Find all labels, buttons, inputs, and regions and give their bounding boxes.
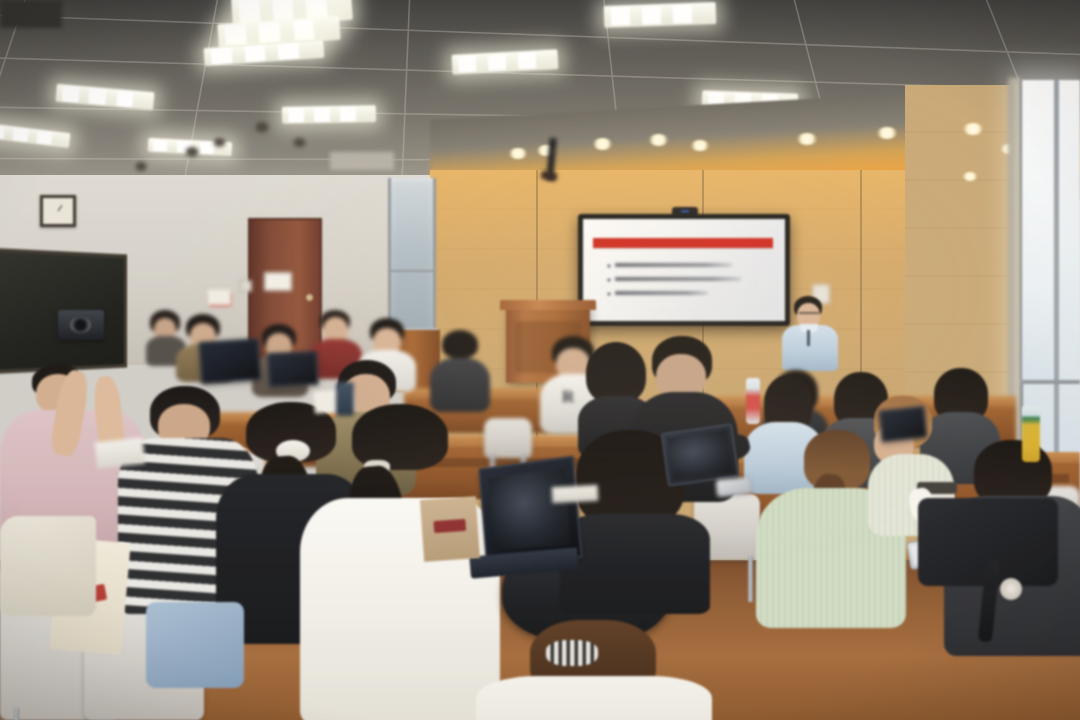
presenter-lanyard <box>807 330 810 346</box>
glasses-icon <box>799 312 819 318</box>
recessed-downlight <box>796 133 818 145</box>
ceiling-speaker-icon <box>136 162 146 170</box>
smartphone[interactable] <box>715 476 752 497</box>
recessed-downlight <box>962 172 978 181</box>
recessed-downlight <box>690 140 710 151</box>
ceiling-light-fixture <box>282 105 376 124</box>
recessed-downlight <box>648 134 669 146</box>
recessed-downlight <box>508 148 528 159</box>
laptop[interactable] <box>199 338 262 384</box>
laptop[interactable] <box>878 406 927 443</box>
attendee <box>430 330 490 408</box>
presentation-slide <box>583 219 785 321</box>
wall-clock <box>40 195 76 227</box>
ceiling-speaker-icon <box>256 122 268 131</box>
ceiling-speaker-icon <box>294 138 305 146</box>
ac-vent <box>0 0 62 28</box>
shirt-letter-r: R <box>562 388 576 406</box>
recessed-downlight <box>876 127 898 139</box>
camera-led-icon <box>681 210 689 213</box>
notice-sign-white <box>264 272 292 291</box>
denim-jacket <box>146 602 244 688</box>
studded-hair-tie <box>546 640 598 666</box>
ceiling-light-fixture <box>604 2 717 28</box>
water-bottle[interactable] <box>746 378 760 424</box>
recessed-downlight <box>962 123 984 135</box>
thermos[interactable] <box>336 382 354 416</box>
laptop[interactable] <box>267 351 319 388</box>
lecture-hall-photograph: R <box>0 0 1080 720</box>
ceiling-speaker-icon <box>214 138 225 146</box>
bag-logo <box>433 519 466 533</box>
bottled-tea[interactable] <box>1022 406 1040 462</box>
flat-panel-display[interactable] <box>578 214 790 326</box>
light-switch[interactable] <box>240 280 252 292</box>
laptop[interactable] <box>478 456 582 563</box>
tablet[interactable] <box>661 423 740 486</box>
coat-on-chair <box>0 516 96 616</box>
ac-vent <box>330 152 394 170</box>
door-handle[interactable] <box>306 294 313 301</box>
compact-camera[interactable] <box>58 310 104 340</box>
bag-charm <box>1000 578 1022 600</box>
wall-sign-upper <box>206 288 232 306</box>
presenter <box>780 296 850 366</box>
notebook[interactable] <box>95 438 145 469</box>
slide-accent-bar <box>593 238 773 247</box>
notebook[interactable] <box>552 485 599 503</box>
ceiling-speaker-icon <box>186 147 198 156</box>
lectern-top <box>500 300 596 310</box>
recessed-downlight <box>592 138 613 150</box>
paper-bag[interactable] <box>420 496 480 562</box>
